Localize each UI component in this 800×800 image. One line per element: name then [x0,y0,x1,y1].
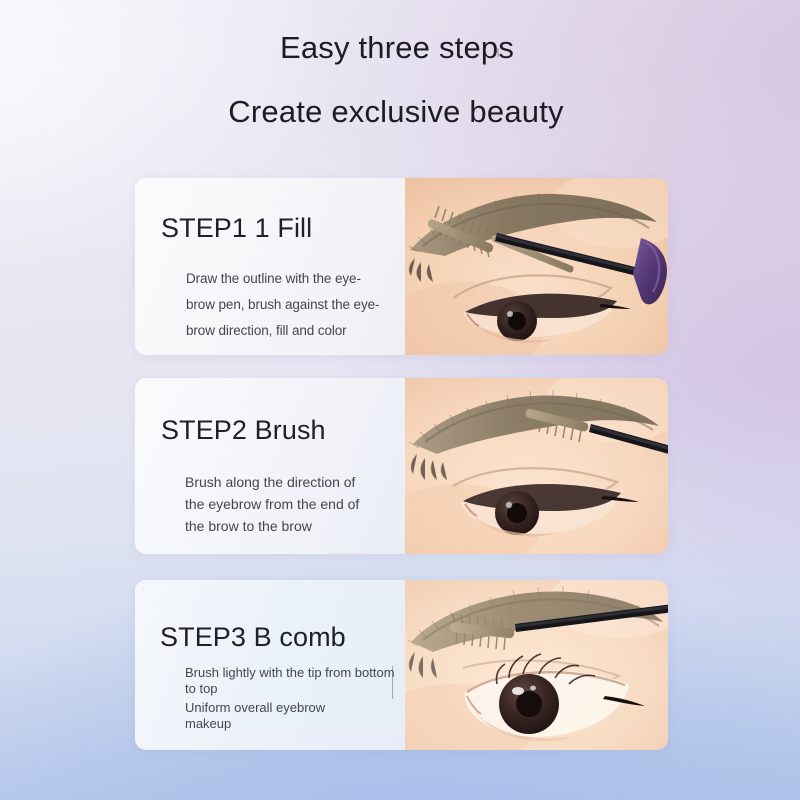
eye-brush-illustration-1 [405,178,668,355]
eye-brush-illustration-3 [405,580,668,750]
step-card-2-text-panel: STEP2 Brush Brush along the direction of… [135,378,405,554]
step-card-1-description-line-3: brow direction, fill and color [186,318,391,344]
page-title-line-1: Easy three steps [0,32,800,63]
step-card-3-description-line-4: makeup [185,716,409,732]
step-card-1-description: Draw the outline with the eye- brow pen,… [186,266,391,344]
step-card-3-description-line-3: Uniform overall eyebrow [185,700,409,716]
step-card-2-description: Brush along the direction of the eyebrow… [185,471,385,537]
step-card-1-title: STEP1 1 Fill [161,215,312,242]
step-card-3-description-line-1: Brush lightly with the tip from bottom [185,665,409,681]
eye-brush-illustration-2 [405,378,668,554]
step-card-2[interactable]: STEP2 Brush Brush along the direction of… [135,378,668,554]
step-card-2-description-line-3: the brow to the brow [185,515,385,537]
step-card-3-description: Brush lightly with the tip from bottom t… [185,665,409,731]
step-card-2-description-line-2: the eyebrow from the end of [185,493,385,515]
step-card-3-text-panel: STEP3 B comb Brush lightly with the tip … [135,580,405,750]
step-card-2-description-line-1: Brush along the direction of [185,471,385,493]
heading-block: Easy three steps Create exclusive beauty [0,32,800,127]
step-card-3[interactable]: STEP3 B comb Brush lightly with the tip … [135,580,668,750]
step-card-1-photo [405,178,668,355]
step-card-3-photo [405,580,668,750]
step-card-3-description-paragraph-1: Brush lightly with the tip from bottom t… [185,665,409,696]
page-title-line-2: Create exclusive beauty [0,96,800,127]
step-card-1-description-line-2: brow pen, brush against the eye- [186,292,391,318]
step-card-1-text-panel: STEP1 1 Fill Draw the outline with the e… [135,178,405,355]
step-card-1-description-line-1: Draw the outline with the eye- [186,266,391,292]
step-card-3-description-line-2: to top [185,681,409,697]
step-card-3-title: STEP3 B comb [160,624,346,651]
step-card-3-text-divider [392,666,393,699]
step-card-2-photo [405,378,668,554]
step-card-3-description-paragraph-2: Uniform overall eyebrow makeup [185,700,409,731]
step-card-2-title: STEP2 Brush [161,417,326,444]
step-card-1[interactable]: STEP1 1 Fill Draw the outline with the e… [135,178,668,355]
